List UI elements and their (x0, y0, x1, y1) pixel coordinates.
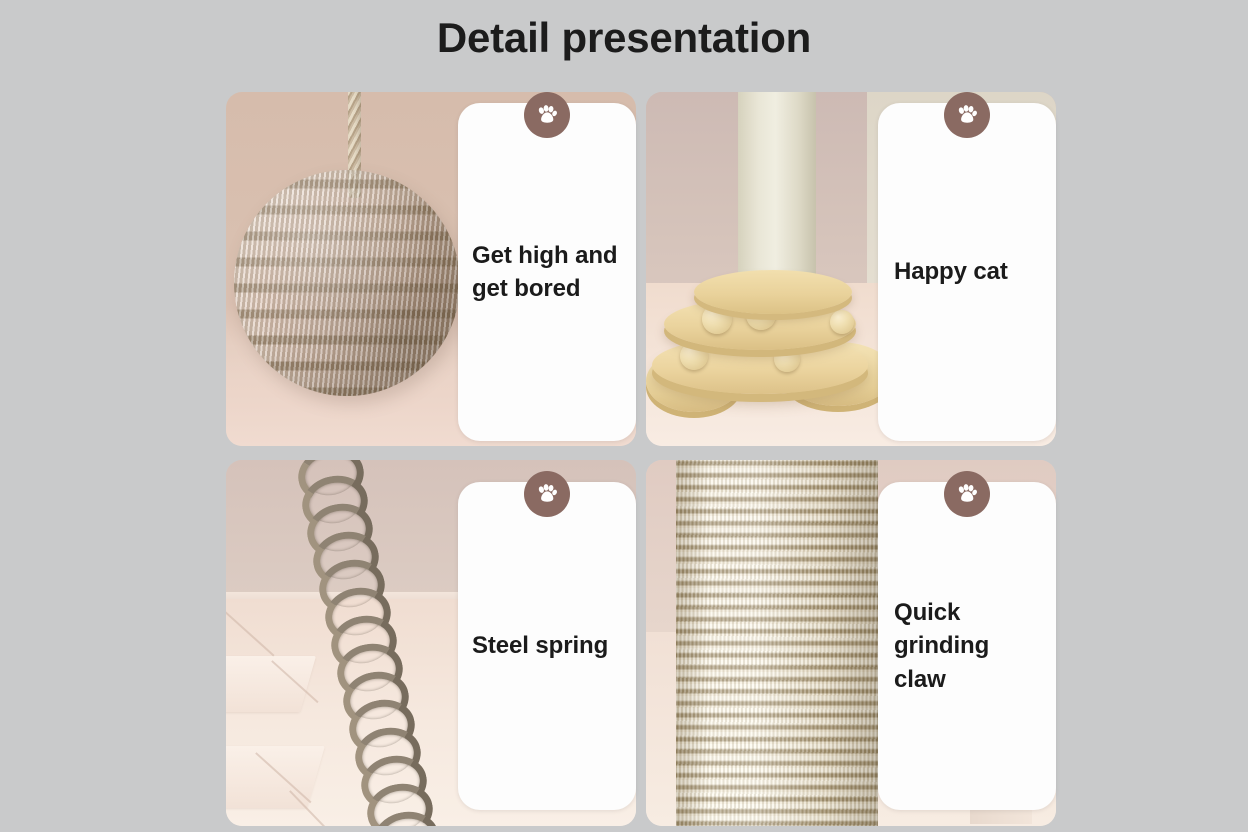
feature-panel-grinding-claw[interactable]: Quick grinding claw (646, 460, 1056, 826)
paw-icon (524, 92, 570, 138)
caption-card-steel-spring[interactable]: Steel spring (458, 482, 636, 810)
caption-card-happy-cat[interactable]: Happy cat (878, 103, 1056, 441)
steel-spring-graphic (272, 460, 452, 826)
page-title: Detail presentation (0, 14, 1248, 61)
caption-text-sisal-ball: Get high and get bored (458, 239, 636, 305)
feature-panel-steel-spring[interactable]: Steel spring (226, 460, 636, 826)
caption-text-happy-cat: Happy cat (878, 255, 1022, 288)
post-graphic (738, 92, 816, 286)
caption-text-grinding-claw: Quick grinding claw (878, 596, 1056, 695)
caption-card-sisal-ball[interactable]: Get high and get bored (458, 103, 636, 441)
feature-grid: Get high and get bored (226, 92, 1056, 826)
caption-card-grinding-claw[interactable]: Quick grinding claw (878, 482, 1056, 810)
paw-icon (524, 471, 570, 517)
paw-icon (944, 92, 990, 138)
feature-panel-happy-cat[interactable]: Happy cat (646, 92, 1056, 446)
sisal-post-graphic (676, 460, 878, 826)
feature-panel-sisal-ball[interactable]: Get high and get bored (226, 92, 636, 446)
paw-icon (944, 471, 990, 517)
caption-text-steel-spring: Steel spring (458, 629, 622, 662)
sisal-ball-graphic (234, 170, 460, 396)
